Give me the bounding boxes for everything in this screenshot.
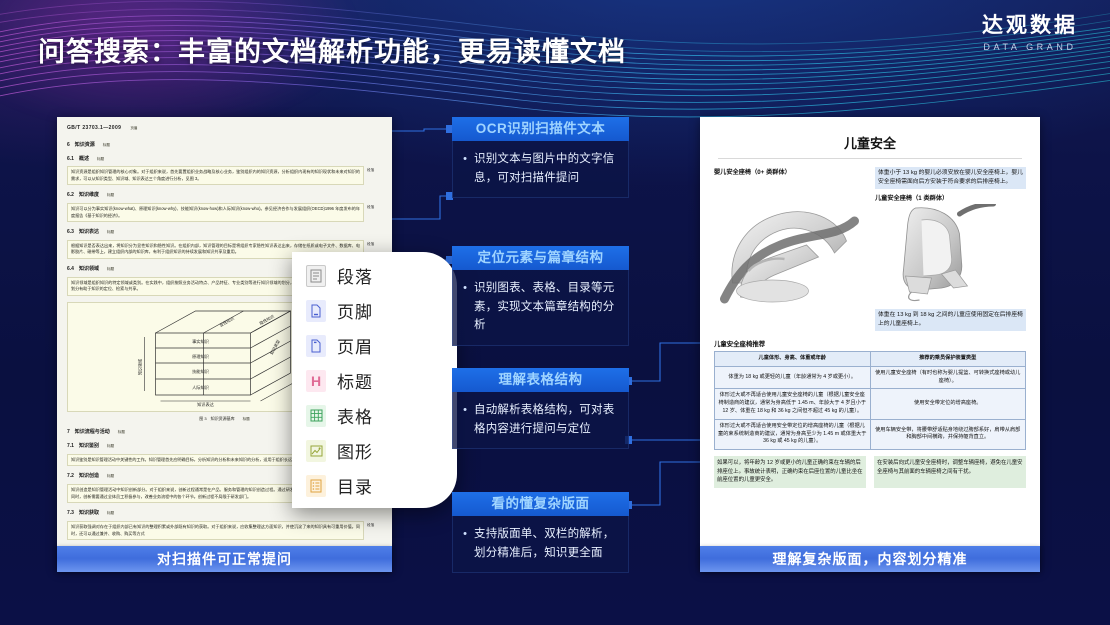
svg-text:原理知识: 原理知识 xyxy=(192,353,209,360)
footnote-row: 如果可以，将年龄为 12 岁或更小的儿童正确约束在车辆的后排座位上。事故统计表明… xyxy=(714,456,1026,488)
right-document-card: 儿童安全 婴儿安全座椅（0+ 类群体） xyxy=(700,117,1040,569)
standard-code: GB/T 23703.1—2009 xyxy=(67,125,121,133)
callout-ocr[interactable]: OCR识别扫描件文本 • 识别文本与图片中的文字信息，可对扫描件提问 xyxy=(452,117,629,198)
paragraph-row: 知识可以分为事实知识(know-what)、原理知识(know-why)、技能知… xyxy=(67,202,382,225)
section-heading: 6.3 知识表达 xyxy=(67,229,99,237)
divider xyxy=(718,158,1022,159)
footnote-right: 在安装后向式儿童安全座椅时，调整车辆座椅，避免在儿童安全座椅与其前面的车辆座椅之… xyxy=(874,456,1026,488)
table-header-cell: 推荐的乘员保护装置类型 xyxy=(870,351,1026,366)
element-item-table[interactable]: 表格 xyxy=(306,398,457,433)
logo-chinese: 达观数据 xyxy=(982,14,1078,38)
annotation-tag-paragraph: 段落 xyxy=(367,202,382,211)
element-item-toc[interactable]: 目录 xyxy=(306,468,457,503)
logo-english: DATA GRAND xyxy=(982,42,1078,52)
svg-text:事实知识: 事实知识 xyxy=(192,338,209,345)
svg-text:知识领域: 知识领域 xyxy=(137,359,143,375)
element-label: 表格 xyxy=(337,403,373,428)
annotation-tag-heading: 标题 xyxy=(103,143,110,149)
table-cell: 体重为 18 kg 或更轻的儿童（年龄通常为 4 岁或更小）。 xyxy=(715,366,871,389)
header-icon xyxy=(306,335,326,357)
table-row: 体形过大或不再适合使用儿童安全座椅的儿童（根据儿童安全座椅制造商的建议，通常为身… xyxy=(715,389,1026,419)
footer-icon xyxy=(306,300,326,322)
bullet-icon: • xyxy=(461,150,469,187)
bullet-icon: • xyxy=(461,525,469,562)
figure-icon xyxy=(306,440,326,462)
bullet-icon: • xyxy=(461,401,469,438)
element-item-footer[interactable]: 页脚 xyxy=(306,293,457,328)
section-heading: 7.2 知识创造 xyxy=(67,473,99,481)
callout-layout[interactable]: 看的懂复杂版面 • 支持版面单、双栏的解析，划分精准后，知识更全面 xyxy=(452,492,629,573)
element-label: 标题 xyxy=(337,368,373,393)
callout-title: OCR识别扫描件文本 xyxy=(452,117,629,141)
left-caption-bar: 对扫描件可正常提问 xyxy=(57,546,392,572)
right-caption-bar: 理解复杂版面，内容划分精准 xyxy=(700,546,1040,572)
brand-logo: 达观数据 DATA GRAND xyxy=(982,14,1078,52)
callout-text: 自动解析表格结构，可对表格内容进行提问与定位 xyxy=(474,401,619,438)
table-header-row: 儿童体形、身高、体重或年龄 推荐的乘员保护装置类型 xyxy=(715,351,1026,366)
element-item-paragraph[interactable]: 段落 xyxy=(306,258,457,293)
table-cell: 体形过大或不再适合使用儿童安全座椅的儿童（根据儿童安全座椅制造商的建议，通常为身… xyxy=(715,389,871,419)
annotation-tag-header: 页眉 xyxy=(130,126,137,132)
child-seat-label: 儿童安全座椅（1 类群体） xyxy=(875,193,1026,202)
section-heading: 6.1 概述 xyxy=(67,156,89,164)
callout-title: 定位元素与篇章结构 xyxy=(452,246,629,270)
callout-title: 理解表格结构 xyxy=(452,368,629,392)
callout-body: • 支持版面单、双栏的解析，划分精准后，知识更全面 xyxy=(452,516,629,573)
recommendation-table: 儿童体形、身高、体重或年龄 推荐的乘员保护装置类型 体重为 18 kg 或更轻的… xyxy=(714,351,1026,450)
child-seat-illustration xyxy=(875,204,1026,304)
slide-root: 问答搜索：丰富的文档解析功能，更易读懂文档 达观数据 DATA GRAND xyxy=(0,0,1110,625)
toc-icon xyxy=(306,475,326,497)
callout-body: • 自动解析表格结构，可对表格内容进行提问与定位 xyxy=(452,392,629,449)
bullet-icon: • xyxy=(461,279,469,335)
section-heading: 6.2 知识维度 xyxy=(67,192,99,200)
element-item-figure[interactable]: 图形 xyxy=(306,433,457,468)
right-doc-title: 儿童安全 xyxy=(714,133,1026,152)
infant-seat-illustration xyxy=(714,179,865,307)
table-title: 儿童安全座椅推荐 xyxy=(714,339,1026,348)
annotation-tag-figcaption: 标题 xyxy=(243,417,250,423)
annotation-tag-heading: 标题 xyxy=(107,444,114,450)
infant-weight-note: 体重小于 13 kg 的婴儿必须安放在婴儿安全座椅上，婴儿安全座椅需面向后方安装… xyxy=(875,167,1026,189)
section-heading: 6.4 知识领域 xyxy=(67,266,99,274)
element-type-panel[interactable]: 段落 页脚 页眉 H 标题 表格 图形 xyxy=(292,252,457,508)
callout-text: 支持版面单、双栏的解析，划分精准后，知识更全面 xyxy=(474,525,619,562)
paragraph-row: 知识资源是组织知识管理的核心对象。对于组织来说，首先要置组织业务战略及核心业务，… xyxy=(67,165,382,188)
table-cell: 体形过大或不再适合使用安全带定位的增高座椅的儿童（根据儿童的束系统制造商的建议，… xyxy=(715,419,871,449)
doc-paragraph: 知识资源是组织知识管理的核心对象。对于组织来说，首先要置组织业务战略及核心业务，… xyxy=(67,166,364,185)
annotation-tag-heading: 标题 xyxy=(107,267,114,273)
svg-text:显性知识: 显性知识 xyxy=(218,315,235,328)
annotation-tag-heading: 标题 xyxy=(107,193,114,199)
annotation-tag-paragraph: 段落 xyxy=(367,520,382,529)
svg-text:技能知识: 技能知识 xyxy=(192,368,209,375)
child-weight-note: 体重在 13 kg 到 18 kg 之间的儿童应使用固定在后排座椅上的儿童座椅上… xyxy=(875,309,1026,331)
callout-text: 识别文本与图片中的文字信息，可对扫描件提问 xyxy=(474,150,619,187)
section-heading: 7 知识流程与活动 xyxy=(67,429,110,437)
element-label: 目录 xyxy=(337,473,373,498)
paragraph-row: 知识获取强调对存在于组织内部已有知识的整理积累或外部既有知识的获取。对于组织来说… xyxy=(67,520,382,543)
svg-text:知识表达: 知识表达 xyxy=(197,401,215,408)
annotation-tag-paragraph: 段落 xyxy=(367,239,382,248)
infant-seat-label: 婴儿安全座椅（0+ 类群体） xyxy=(714,167,865,176)
callout-title: 看的懂复杂版面 xyxy=(452,492,629,516)
callout-body: • 识别文本与图片中的文字信息，可对扫描件提问 xyxy=(452,141,629,198)
table-icon xyxy=(306,405,326,427)
page-title: 问答搜索：丰富的文档解析功能，更易读懂文档 xyxy=(38,30,626,69)
doc-paragraph: 知识获取强调对存在于组织内部已有知识的整理积累或外部既有知识的获取。对于组织来说… xyxy=(67,521,364,540)
element-label: 页眉 xyxy=(337,333,373,358)
table-cell: 使用车辆安全带，将腰带舒适贴身地绕过胯部系好，肩带从肩部和胸部中间横跨，并保持躯… xyxy=(870,419,1026,449)
table-row: 体重为 18 kg 或更轻的儿童（年龄通常为 4 岁或更小）。 使用儿童安全座椅… xyxy=(715,366,1026,389)
table-header-cell: 儿童体形、身高、体重或年龄 xyxy=(715,351,871,366)
section-heading: 7.1 知识鉴别 xyxy=(67,443,99,451)
annotation-tag-heading: 标题 xyxy=(118,430,125,436)
section-heading: 6 知识资源 xyxy=(67,142,95,150)
footnote-left: 如果可以，将年龄为 12 岁或更小的儿童正确约束在车辆的后排座位上。事故统计表明… xyxy=(714,456,866,488)
table-cell: 使用儿童安全座椅（有时也称为婴儿提篮、可转换式座椅或幼儿座椅）。 xyxy=(870,366,1026,389)
heading-icon: H xyxy=(306,370,326,392)
element-item-header[interactable]: 页眉 xyxy=(306,328,457,363)
callout-structure[interactable]: 定位元素与篇章结构 • 识别图表、表格、目录等元素，实现文本篇章结构的分析 xyxy=(452,246,629,346)
annotation-tag-heading: 标题 xyxy=(97,157,104,163)
section-heading: 7.3 知识获取 xyxy=(67,510,99,518)
table-cell: 使用安全带定位的增高座椅。 xyxy=(870,389,1026,419)
callout-text: 识别图表、表格、目录等元素，实现文本篇章结构的分析 xyxy=(474,279,619,335)
table-row: 体形过大或不再适合使用安全带定位的增高座椅的儿童（根据儿童的束系统制造商的建议，… xyxy=(715,419,1026,449)
annotation-tag-heading: 标题 xyxy=(107,511,114,517)
callout-table[interactable]: 理解表格结构 • 自动解析表格结构，可对表格内容进行提问与定位 xyxy=(452,368,629,449)
doc-paragraph: 知识可以分为事实知识(know-what)、原理知识(know-why)、技能知… xyxy=(67,203,364,222)
element-label: 图形 xyxy=(337,438,373,463)
annotation-tag-paragraph: 段落 xyxy=(367,165,382,174)
figure-caption: 图 3 知识资源基库 xyxy=(199,416,234,422)
paragraph-icon xyxy=(306,265,326,287)
element-label: 页脚 xyxy=(337,298,373,323)
svg-text:人际知识: 人际知识 xyxy=(192,384,209,391)
element-label: 段落 xyxy=(337,263,373,288)
annotation-tag-heading: 标题 xyxy=(107,474,114,480)
annotation-tag-heading: 标题 xyxy=(107,230,114,236)
callout-body: • 识别图表、表格、目录等元素，实现文本篇章结构的分析 xyxy=(452,270,629,346)
element-item-heading[interactable]: H 标题 xyxy=(306,363,457,398)
